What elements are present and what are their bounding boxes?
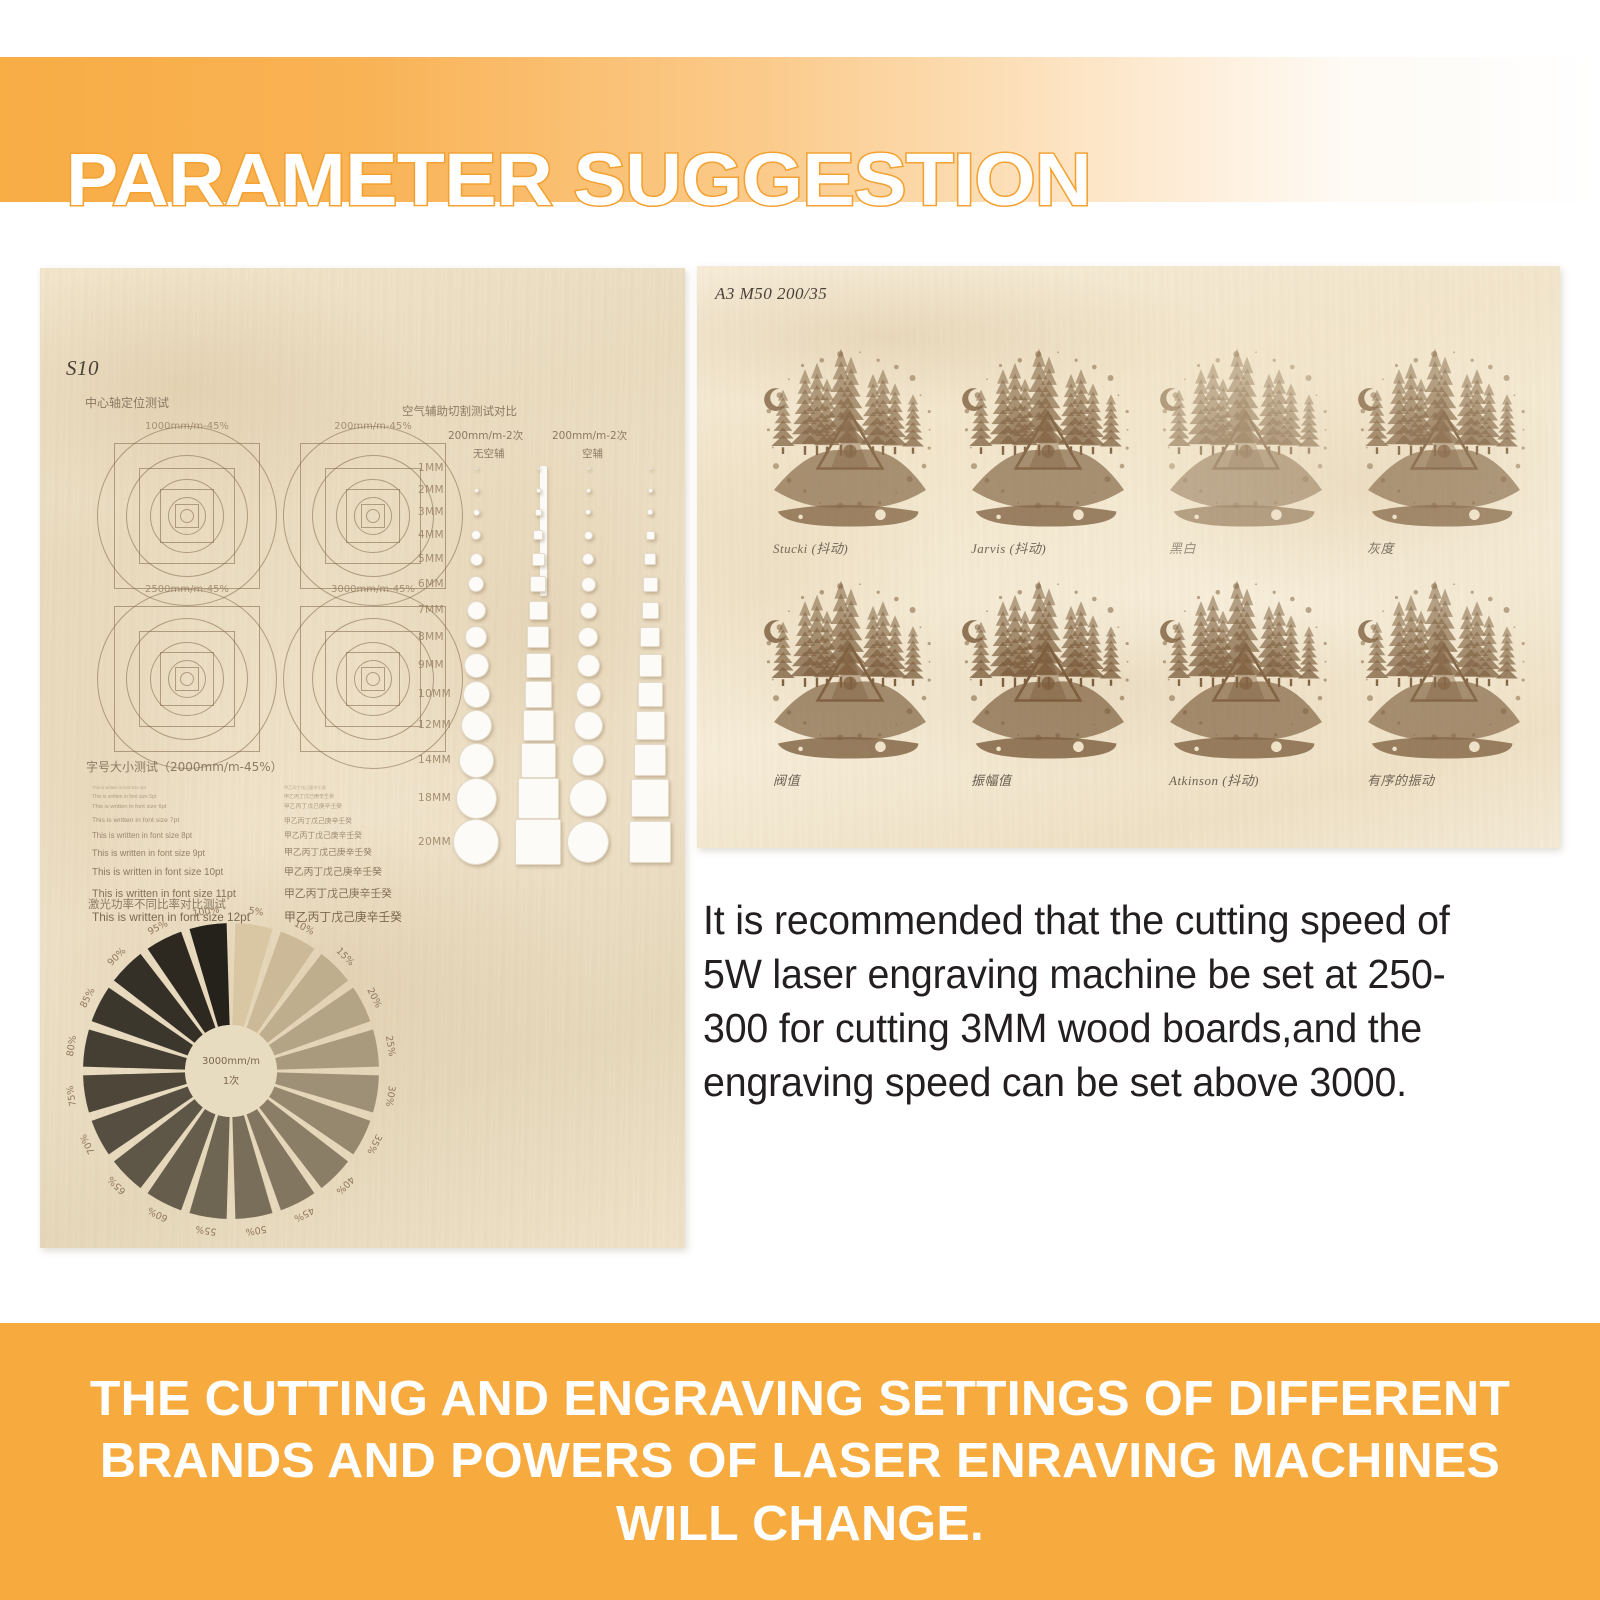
cut-square-chip bbox=[647, 509, 653, 515]
camping-scene-engraving bbox=[953, 550, 1143, 765]
cut-circle-chip bbox=[578, 627, 598, 647]
matrix-row-label: 3MM bbox=[418, 506, 444, 518]
matrix-col-header-2-speed: 200mm/m-2次 bbox=[552, 428, 627, 443]
matrix-col-header-2-assist: 空辅 bbox=[582, 446, 603, 461]
cut-square-chip bbox=[629, 821, 671, 863]
power-percentage-wheel: 3000mm/m 1次 5%10%15%20%25%30%35%40%45%50… bbox=[76, 916, 386, 1226]
font-test-cjk-line: 甲乙丙丁戊己庚辛壬癸 bbox=[284, 849, 402, 858]
engraved-art-tile: 有序的振动 bbox=[1349, 550, 1539, 795]
matrix-row-label: 5MM bbox=[418, 553, 444, 565]
font-test-cjk-line: 甲乙丙丁戊己庚辛壬癸 bbox=[284, 832, 402, 840]
font-test-cjk-line: 甲乙丙丁戊己庚辛壬癸 bbox=[284, 795, 402, 800]
cut-square-chip bbox=[535, 509, 542, 516]
cut-square-chip bbox=[639, 654, 662, 677]
matrix-row-label: 14MM bbox=[418, 754, 451, 766]
art-tile-label: 有序的振动 bbox=[1367, 770, 1435, 789]
cut-circle-chip bbox=[584, 531, 593, 540]
cut-circle-chip bbox=[474, 488, 479, 493]
cut-square-chip bbox=[631, 779, 669, 817]
matrix-row-label: 18MM bbox=[418, 792, 451, 804]
matrix-row-label: 6MM bbox=[418, 578, 444, 590]
cut-square-chip bbox=[518, 778, 559, 819]
cut-square-chip bbox=[532, 553, 545, 566]
font-test-cjk-line: 甲乙丙丁戊己庚辛壬癸 bbox=[284, 818, 402, 825]
cut-circle-chip bbox=[456, 778, 497, 819]
engraved-art-tile: Jarvis (抖动) bbox=[953, 318, 1143, 563]
header-banner: PARAMETER SUGGESTION bbox=[0, 57, 1600, 202]
font-test-cjk-line: 甲乙丙丁戊己庚辛壬癸 bbox=[284, 805, 402, 811]
matrix-col-header-1-assist: 无空辅 bbox=[473, 446, 505, 461]
font-test-latin-column: This is written in font size 4ptThis is … bbox=[92, 786, 250, 937]
font-test-cjk-line: 甲乙丙丁戊己庚辛壬癸 bbox=[284, 786, 402, 790]
cut-circle-chip bbox=[453, 819, 499, 865]
cut-circle-chip bbox=[569, 779, 607, 817]
cut-square-chip bbox=[525, 681, 552, 708]
cut-circle-chip bbox=[582, 553, 594, 565]
cut-square-chip bbox=[648, 488, 653, 493]
handwritten-mark-right: A3 M50 200/35 bbox=[715, 284, 827, 304]
cut-circle-chip bbox=[464, 653, 489, 678]
matrix-row-label: 8MM bbox=[418, 631, 444, 643]
font-test-cjk-line: 甲乙丙丁戊己庚辛壬癸 bbox=[284, 889, 402, 900]
cut-square-chip bbox=[646, 531, 655, 540]
cut-square-chip bbox=[640, 627, 660, 647]
cut-circle-chip bbox=[581, 577, 596, 592]
matrix-row-label: 4MM bbox=[418, 529, 444, 541]
camping-scene-engraving bbox=[1349, 550, 1539, 765]
footer-text: THE CUTTING AND ENGRAVING SETTINGS OF DI… bbox=[45, 1368, 1555, 1555]
cut-square-chip bbox=[649, 467, 652, 470]
cut-circle-chip bbox=[459, 743, 494, 778]
camping-scene-engraving bbox=[1151, 318, 1341, 533]
camping-scene-engraving bbox=[953, 318, 1143, 533]
matrix-section-title: 空气辅助切割测试对比 bbox=[402, 403, 517, 419]
cut-square-chip bbox=[515, 819, 561, 865]
cut-square-chip bbox=[644, 553, 656, 565]
cut-circle-chip bbox=[475, 467, 478, 470]
wheel-percent-label: 55% bbox=[195, 1223, 218, 1237]
font-test-line: This is written in font size 8pt bbox=[92, 832, 250, 840]
cut-circle-chip bbox=[567, 821, 609, 863]
font-test-line: This is written in font size 10pt bbox=[92, 868, 250, 878]
cut-circle-chip bbox=[586, 488, 591, 493]
cut-square-chip bbox=[643, 577, 658, 592]
font-test-cjk-line: 甲乙丙丁戊己庚辛壬癸 bbox=[284, 868, 402, 878]
camping-scene-engraving bbox=[755, 318, 945, 533]
engraved-art-tile: 振幅值 bbox=[953, 550, 1143, 795]
engraved-art-tile: 灰度 bbox=[1349, 318, 1539, 563]
camping-scene-engraving bbox=[1349, 318, 1539, 533]
matrix-row-label: 9MM bbox=[418, 659, 444, 671]
engraved-art-tile: Stucki (抖动) bbox=[755, 318, 945, 563]
camping-scene-engraving bbox=[1151, 550, 1341, 765]
wheel-percent-label: 5% bbox=[248, 905, 265, 918]
cut-square-chip bbox=[533, 530, 543, 540]
infographic-page: PARAMETER SUGGESTION S10 中心轴定位测试 1000mm/… bbox=[0, 0, 1600, 1600]
cut-square-chip bbox=[521, 743, 556, 778]
font-size-test-block: 字号大小测试（2000mm/m-45%） This is written in … bbox=[86, 758, 416, 775]
engraved-art-tile: 黑白 bbox=[1151, 318, 1341, 563]
cut-circle-chip bbox=[473, 509, 480, 516]
cut-circle-chip bbox=[468, 576, 484, 592]
wheel-percent-label: 30% bbox=[383, 1085, 397, 1108]
matrix-row-label: 7MM bbox=[418, 604, 444, 616]
wheel-percent-label: 25% bbox=[383, 1035, 397, 1058]
cut-circle-chip bbox=[585, 509, 591, 515]
font-test-line: This is written in font size 7pt bbox=[92, 818, 250, 825]
wheel-center-passes: 1次 bbox=[223, 1072, 239, 1087]
cut-square-chip bbox=[536, 488, 541, 493]
wheel-center-hub: 3000mm/m 1次 bbox=[185, 1025, 277, 1117]
cut-square-chip bbox=[530, 576, 546, 592]
cut-square-chip bbox=[523, 710, 554, 741]
matrix-col-header-1-speed: 200mm/m-2次 bbox=[448, 428, 523, 443]
left-test-board: S10 中心轴定位测试 1000mm/m-45% 200mm/m-45% bbox=[40, 268, 685, 1248]
footer-banner: THE CUTTING AND ENGRAVING SETTINGS OF DI… bbox=[0, 1323, 1600, 1600]
wheel-percent-label: 50% bbox=[245, 1223, 268, 1237]
font-test-line: This is written in font size 6pt bbox=[92, 805, 250, 811]
camping-scene-engraving bbox=[755, 550, 945, 765]
matrix-row-label: 10MM bbox=[418, 688, 451, 700]
cut-square-chip bbox=[634, 744, 666, 776]
cut-circle-chip bbox=[461, 710, 492, 741]
matrix-row-label: 12MM bbox=[418, 719, 451, 731]
cut-circle-chip bbox=[574, 711, 603, 740]
engraved-art-tile: 阀值 bbox=[755, 550, 945, 795]
font-test-title: 字号大小测试（2000mm/m-45%） bbox=[86, 758, 416, 775]
cut-square-chip bbox=[537, 467, 540, 470]
wheel-center-speed: 3000mm/m bbox=[202, 1056, 260, 1067]
matrix-row-label: 20MM bbox=[418, 836, 451, 848]
font-test-cjk-column: 甲乙丙丁戊己庚辛壬癸甲乙丙丁戊己庚辛壬癸甲乙丙丁戊己庚辛壬癸甲乙丙丁戊己庚辛壬癸… bbox=[284, 786, 402, 937]
cut-circle-chip bbox=[580, 602, 597, 619]
art-tile-label: Atkinson (抖动) bbox=[1169, 770, 1259, 789]
right-dither-board: A3 M50 200/35 Stucki (抖动) Jarvis (抖动) 黑白… bbox=[697, 266, 1560, 848]
cut-square-chip bbox=[527, 626, 549, 648]
cut-circle-chip bbox=[465, 626, 487, 648]
cut-circle-chip bbox=[576, 682, 601, 707]
cut-square-chip bbox=[529, 601, 548, 620]
engraved-art-tile: Atkinson (抖动) bbox=[1151, 550, 1341, 795]
font-test-line: This is written in font size 4pt bbox=[92, 786, 250, 790]
cut-circle-chip bbox=[587, 467, 590, 470]
cut-circle-chip bbox=[467, 601, 486, 620]
matrix-row-label: 2MM bbox=[418, 484, 444, 496]
font-test-line: This is written in font size 5pt bbox=[92, 795, 250, 800]
cut-square-chip bbox=[526, 653, 551, 678]
cut-square-chip bbox=[636, 711, 665, 740]
recommendation-paragraph: It is recommended that the cutting speed… bbox=[703, 893, 1509, 1109]
cut-circle-chip bbox=[577, 654, 600, 677]
cut-circle-chip bbox=[463, 681, 490, 708]
matrix-row-label: 1MM bbox=[418, 462, 444, 474]
cut-circle-chip bbox=[470, 553, 483, 566]
art-tile-label: 阀值 bbox=[773, 770, 800, 789]
art-tile-label: 振幅值 bbox=[971, 770, 1012, 789]
cut-square-chip bbox=[642, 602, 659, 619]
cut-circle-chip bbox=[471, 530, 481, 540]
font-test-line: This is written in font size 9pt bbox=[92, 849, 250, 858]
page-title: PARAMETER SUGGESTION bbox=[66, 137, 1091, 222]
cut-circle-chip bbox=[572, 744, 604, 776]
cut-square-chip bbox=[638, 682, 663, 707]
